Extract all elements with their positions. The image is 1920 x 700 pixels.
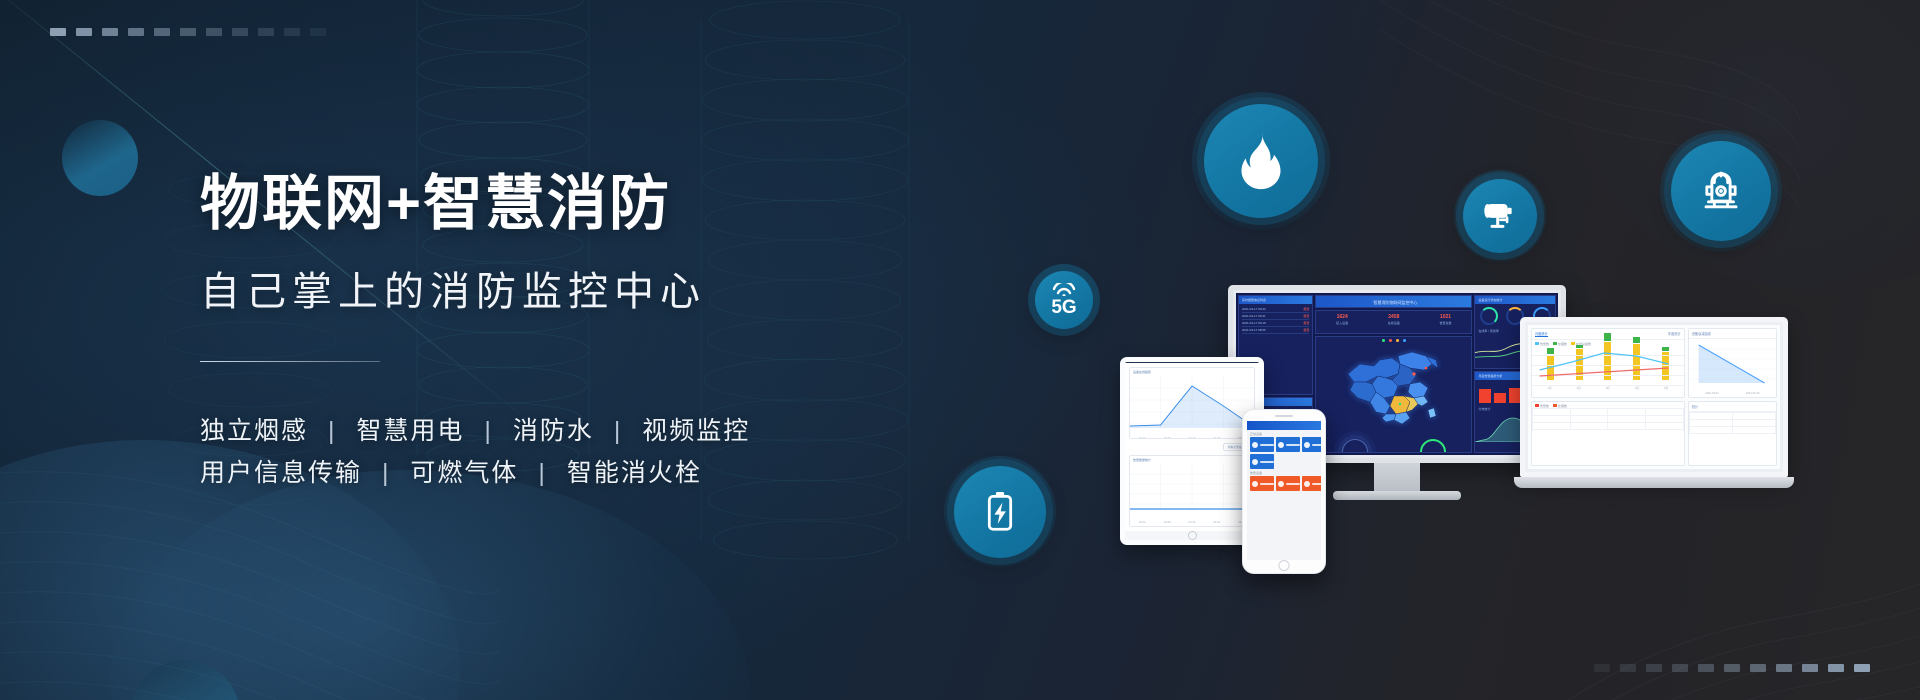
badge-camera[interactable]: [1454, 170, 1546, 262]
panel-china-map: 烟感 气体 水系统 正常 告警 离线: [1315, 336, 1472, 453]
axis-labels: 1月 2月 3月 4月 5月: [1532, 386, 1684, 392]
map-bottom-rings: [1316, 436, 1471, 453]
alert-status: 报警: [1303, 321, 1309, 325]
table-row: 2021-03-17 09:31 报警: [1242, 313, 1309, 320]
map-container: [1316, 344, 1471, 436]
gauge: [1480, 307, 1498, 325]
kpi-label: 在线设备: [1388, 321, 1400, 325]
table-row: [1533, 409, 1684, 416]
laptop-table-card: 告警数 处理数: [1531, 401, 1685, 466]
line-chart: [1130, 376, 1254, 432]
hero-banner: 物联网+智慧消防 自己掌上的消防监控中心 独立烟感 | 智慧用电 | 消防水 |…: [0, 0, 1920, 700]
phone-tile[interactable]: [1276, 476, 1300, 491]
tab-inactive[interactable]: 年度统计: [1668, 331, 1681, 337]
table-row: [1689, 427, 1775, 434]
chart-title: 设备在线趋势: [1130, 368, 1254, 376]
alert-time: 2021-03-17 09:42: [1242, 307, 1266, 311]
feature-separator: |: [473, 417, 504, 445]
flat-line-chart: [1130, 464, 1254, 516]
phone-tile[interactable]: [1302, 437, 1321, 452]
alert-time: 2021-03-17 09:18: [1242, 321, 1266, 325]
panel-kpis: 1624 接入设备 2458 在线设备 1021 告警总数: [1315, 310, 1472, 334]
laptop-row-bottom: 告警数 处理数 统计: [1531, 401, 1777, 466]
data-table: [1532, 408, 1684, 430]
tablet-chart-card-bottom: 告警数量统计 03-0103-0803-1503-2203-30: [1129, 455, 1255, 527]
tab-active[interactable]: 月度统计: [1535, 331, 1548, 337]
card-header: 统计: [1689, 402, 1776, 412]
alert-status: 报警: [1303, 314, 1309, 318]
phone-tile[interactable]: [1250, 476, 1274, 491]
bar-chart: [1532, 346, 1684, 386]
kpi-item: 1021 告警总数: [1439, 314, 1451, 325]
monitor-neck: [1374, 463, 1420, 491]
feature-separator: |: [371, 459, 402, 487]
feature-separator: |: [317, 417, 348, 445]
hero-copy: 物联网+智慧消防 自己掌上的消防监控中心 独立烟感 | 智慧用电 | 消防水 |…: [200, 170, 960, 494]
phone-tile[interactable]: [1276, 437, 1300, 452]
status-ring: [1420, 439, 1446, 453]
panel-title: 设备运行状态统计: [1475, 296, 1555, 304]
kpi-item: 2458 在线设备: [1388, 314, 1400, 325]
feature-item: 独立烟感: [200, 417, 308, 445]
phone-app-header: [1247, 421, 1321, 430]
kpi-value: 2458: [1388, 314, 1400, 320]
axis-labels: 03-0103-0503-1003-1503-20: [1130, 437, 1254, 439]
laptop-screen: 月度统计 年度统计 告警数 处理数 在线设备数: [1528, 325, 1780, 469]
axis-labels: 03-0103-0803-1503-2203-30: [1130, 521, 1254, 524]
tablet-home-button[interactable]: [1125, 531, 1259, 540]
feature-list: 独立烟感 | 智慧用电 | 消防水 | 视频监控 用户信息传输 | 可燃气体 |…: [200, 410, 960, 494]
badge-disc: [1204, 104, 1318, 218]
laptop-row-top: 月度统计 年度统计 告警数 处理数 在线设备数: [1531, 328, 1777, 398]
phone-home-button[interactable]: [1279, 560, 1290, 571]
feature-item: 可燃气体: [410, 459, 518, 487]
decor-dash-row-bottom-right: [1594, 664, 1870, 672]
badge-5g[interactable]: 5G: [1028, 264, 1100, 336]
card-title: 设备衰减曲线: [1692, 331, 1711, 336]
decor-circle-bottom-left: [130, 660, 240, 700]
tablet-screen: 设备在线趋势 03-0103-0503-1003-1503-20: [1125, 363, 1259, 531]
kpi-value: 1021: [1439, 314, 1451, 320]
alert-time: 2021-03-17 09:31: [1242, 314, 1266, 318]
phone-tile[interactable]: [1250, 437, 1274, 452]
badge-flame[interactable]: [1192, 92, 1330, 230]
kpi-item: 1624 接入设备: [1336, 314, 1348, 325]
badge-hydrant[interactable]: [1660, 130, 1782, 252]
alert-rows: 2021-03-17 09:42 报警 2021-03-17 09:31 报警 …: [1239, 304, 1312, 336]
table-row: 2021-03-17 09:42 报警: [1242, 306, 1309, 313]
feature-item: 视频监控: [642, 417, 750, 445]
title-divider: [200, 361, 380, 362]
phone-tile-grid-alarm: [1247, 476, 1321, 491]
badge-disc: [1671, 141, 1771, 241]
laptop-area-chart-card: 设备衰减曲线 2021-03-01: [1688, 328, 1777, 398]
phone-section-label: 正常设备: [1247, 430, 1321, 437]
kpi-value: 1624: [1336, 314, 1348, 320]
dashboard-center-column: 智慧消防物联网监控中心 1624 接入设备 2458 在线设备: [1315, 295, 1472, 453]
phone-tile[interactable]: [1250, 454, 1274, 469]
overlay-lines: [1532, 346, 1684, 386]
axis-labels: 2021-03-01 2021-03-15: [1689, 392, 1776, 397]
feature-separator: |: [527, 459, 558, 487]
phone-screen: 正常设备 告警设备: [1247, 421, 1321, 560]
badge-battery[interactable]: [944, 456, 1056, 568]
feature-line-1: 独立烟感 | 智慧用电 | 消防水 | 视频监控: [200, 410, 960, 452]
kpi-label: 告警总数: [1439, 321, 1451, 325]
feature-item: 智慧用电: [356, 417, 464, 445]
decor-circle-top-left: [62, 120, 138, 196]
map-legend: [1316, 337, 1471, 344]
legend-entry: 处理数: [1553, 404, 1567, 408]
camera-icon: [1481, 199, 1519, 233]
kpi-row: 1624 接入设备 2458 在线设备 1021 告警总数: [1316, 311, 1471, 328]
badge-disc: 5G: [1035, 271, 1093, 329]
alert-status: 报警: [1303, 328, 1309, 332]
feature-item: 消防水: [513, 417, 594, 445]
alert-time: 2021-03-17 08:55: [1242, 328, 1266, 332]
feature-item: 用户信息传输: [200, 459, 362, 487]
alert-status: 报警: [1303, 307, 1309, 311]
tablet-action-row: 查看全部设备数据: [1129, 443, 1255, 451]
badge-disc: [954, 466, 1046, 558]
monitor-base: [1333, 491, 1461, 500]
chart-title: 告警数量统计: [1130, 456, 1254, 464]
decor-dash-row-top-left: [50, 28, 326, 36]
tablet-chart-card-top: 设备在线趋势 03-0103-0503-1003-1503-20: [1129, 367, 1255, 439]
signal-wave-icon: [1051, 283, 1077, 296]
page-title: 物联网+智慧消防: [200, 170, 960, 237]
feature-separator: |: [603, 417, 634, 445]
table-row: [1533, 416, 1684, 423]
phone-speaker: [1275, 415, 1293, 417]
phone-section-label: 告警设备: [1247, 469, 1321, 476]
table-row: [1689, 420, 1775, 427]
laptop-device: 月度统计 年度统计 告警数 处理数 在线设备数: [1520, 317, 1800, 488]
5g-label: 5G: [1051, 298, 1076, 317]
data-table: [1689, 412, 1776, 434]
area-chart: [1689, 339, 1776, 387]
phone-tile[interactable]: [1302, 476, 1321, 491]
feature-line-2: 用户信息传输 | 可燃气体 | 智能消火栓: [200, 452, 960, 494]
page-subtitle: 自己掌上的消防监控中心: [200, 259, 960, 317]
table-row: [1689, 413, 1775, 420]
panel-title: 实时报警信息列表: [1239, 296, 1312, 304]
kpi-label: 接入设备: [1336, 321, 1348, 325]
mobile-phone: 正常设备 告警设备: [1242, 409, 1326, 574]
laptop-bar-chart-card: 月度统计 年度统计 告警数 处理数 在线设备数: [1531, 328, 1685, 398]
hydrant-icon: [1699, 166, 1743, 216]
badge-disc: [1463, 179, 1537, 253]
table-row: 2021-03-17 09:18 报警: [1242, 320, 1309, 327]
legend-entry: 告警数: [1535, 404, 1549, 408]
device-cluster: 实时报警信息列表 2021-03-17 09:42 报警 2021-03-17 …: [1120, 285, 1800, 575]
laptop-bottom-right-card: 统计: [1688, 401, 1777, 466]
dashboard-title: 智慧消防物联网监控中心: [1316, 296, 1471, 308]
feature-item: 智能消火栓: [567, 459, 702, 487]
table-row: 2021-03-17 08:55 报警: [1242, 327, 1309, 334]
flame-icon: [1235, 132, 1287, 190]
table-row: [1533, 423, 1684, 430]
china-map-icon: [1340, 344, 1448, 436]
card-header: 设备衰减曲线: [1689, 329, 1776, 339]
panel-center-title: 智慧消防物联网监控中心: [1315, 295, 1472, 308]
laptop-base: [1514, 477, 1794, 488]
battery-icon: [983, 489, 1017, 535]
laptop-lid: 月度统计 年度统计 告警数 处理数 在线设备数: [1520, 317, 1788, 477]
phone-tile-grid-normal: [1247, 437, 1321, 469]
sonar-ring: [1342, 439, 1368, 453]
